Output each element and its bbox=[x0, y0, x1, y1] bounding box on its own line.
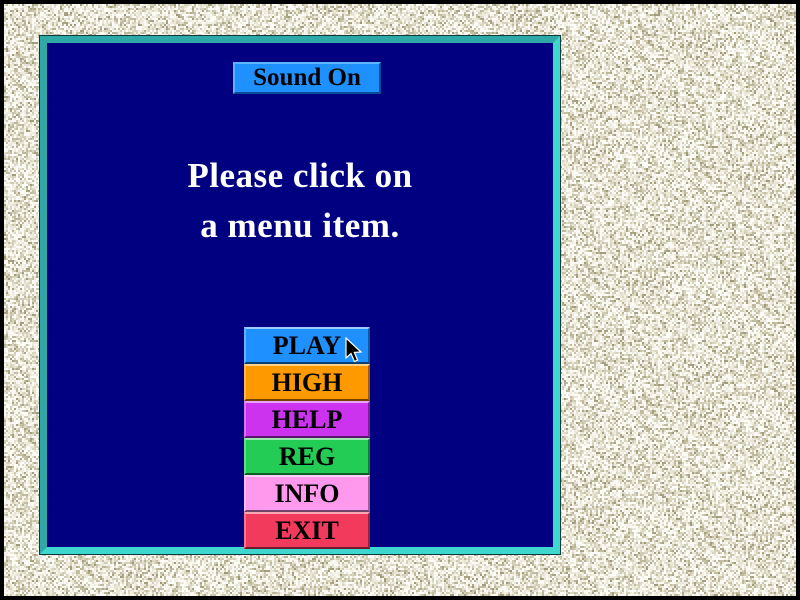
menu-button-reg[interactable]: REG bbox=[244, 438, 370, 475]
prompt-line-2: a menu item. bbox=[47, 201, 553, 251]
menu-button-exit[interactable]: EXIT bbox=[244, 512, 370, 549]
menu-button-high[interactable]: HIGH bbox=[244, 364, 370, 401]
menu-button-info[interactable]: INFO bbox=[244, 475, 370, 512]
main-panel: Sound On Please click on a menu item. PL… bbox=[40, 36, 560, 554]
main-menu: PLAY HIGH HELP REG INFO EXIT bbox=[244, 327, 370, 549]
prompt-line-1: Please click on bbox=[47, 151, 553, 201]
menu-button-play[interactable]: PLAY bbox=[244, 327, 370, 364]
main-panel-inner: Sound On Please click on a menu item. PL… bbox=[47, 43, 553, 547]
prompt-message: Please click on a menu item. bbox=[47, 151, 553, 251]
game-screen: Sound On Please click on a menu item. PL… bbox=[0, 0, 800, 600]
menu-button-help[interactable]: HELP bbox=[244, 401, 370, 438]
sound-toggle-button[interactable]: Sound On bbox=[233, 62, 381, 94]
